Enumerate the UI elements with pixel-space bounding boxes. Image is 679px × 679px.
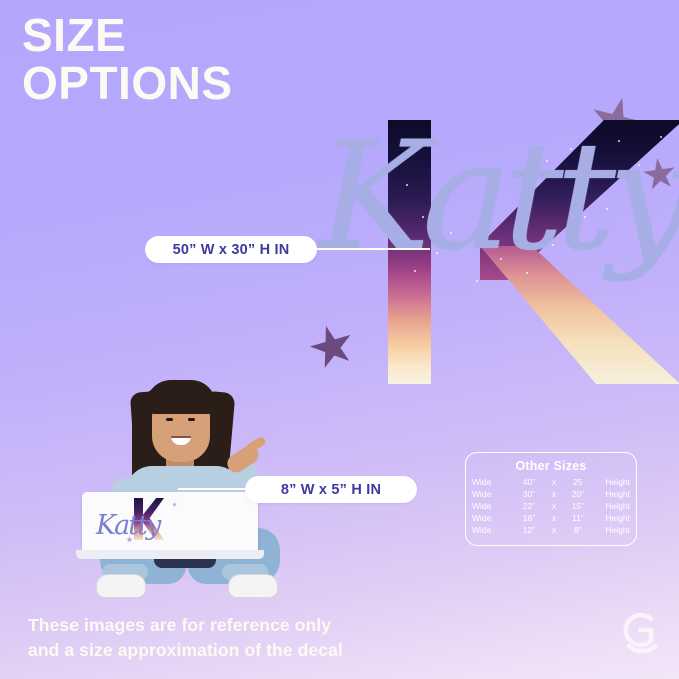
row-wide-label: Wide xyxy=(472,524,513,536)
g-monogram-logo xyxy=(618,607,666,659)
row-height: 25 xyxy=(564,476,592,488)
row-separator: x xyxy=(545,512,564,524)
person-hair-top xyxy=(146,380,216,414)
row-width: 30” xyxy=(513,488,545,500)
row-height-label: Height xyxy=(592,476,630,488)
person-eye-right xyxy=(188,418,195,421)
row-height: 8” xyxy=(564,524,592,536)
row-height: 20” xyxy=(564,488,592,500)
person-eye-left xyxy=(166,418,173,421)
row-width: 40” xyxy=(513,476,545,488)
row-width: 16” xyxy=(513,512,545,524)
small-decal-script-name: Katty xyxy=(96,512,159,539)
row-width: 22” xyxy=(513,500,545,512)
row-height-label: Height xyxy=(592,512,630,524)
large-callout-leader-line xyxy=(314,248,430,250)
laptop-lid: Katty xyxy=(82,492,258,554)
other-sizes-table: Wide 40” x 25 Height Wide 30” x 20” Heig… xyxy=(472,476,630,536)
other-sizes-box: Other Sizes Wide 40” x 25 Height Wide 30… xyxy=(465,452,637,546)
small-callout-leader-line xyxy=(178,488,248,490)
row-height-label: Height xyxy=(592,500,630,512)
row-height-label: Height xyxy=(592,524,630,536)
row-height-label: Height xyxy=(592,488,630,500)
row-wide-label: Wide xyxy=(472,476,513,488)
disclaimer-line-2: and a size approximation of the decal xyxy=(28,638,343,663)
row-separator: x xyxy=(545,524,564,536)
row-wide-label: Wide xyxy=(472,500,513,512)
table-row: Wide 12” x 8” Height xyxy=(472,524,630,536)
page-title-line-1: SIZE xyxy=(22,9,126,61)
person-sneaker-right xyxy=(228,574,278,598)
row-wide-label: Wide xyxy=(472,512,513,524)
large-size-callout: 50” W x 30” H IN xyxy=(145,236,317,263)
page-title: SIZE OPTIONS xyxy=(22,12,352,108)
page-title-line-2: OPTIONS xyxy=(22,60,352,108)
table-row: Wide 16” x 11” Height xyxy=(472,512,630,524)
disclaimer-text: These images are for reference only and … xyxy=(28,613,343,664)
row-height: 11” xyxy=(564,512,592,524)
large-decal-preview: Katty xyxy=(330,96,660,396)
row-separator: x xyxy=(545,500,564,512)
laptop-base xyxy=(76,550,264,559)
table-row: Wide 22” x 15” Height xyxy=(472,500,630,512)
other-sizes-heading: Other Sizes xyxy=(472,459,630,473)
small-size-callout: 8” W x 5” H IN xyxy=(245,476,417,503)
small-decal-star-icon-2 xyxy=(172,502,177,507)
row-separator: x xyxy=(545,476,564,488)
row-separator: x xyxy=(545,488,564,500)
table-row: Wide 30” x 20” Height xyxy=(472,488,630,500)
table-row: Wide 40” x 25 Height xyxy=(472,476,630,488)
disclaimer-line-1: These images are for reference only xyxy=(28,613,343,638)
row-wide-label: Wide xyxy=(472,488,513,500)
row-height: 15” xyxy=(564,500,592,512)
row-width: 12” xyxy=(513,524,545,536)
person-sneaker-left xyxy=(96,574,146,598)
size-options-graphic: SIZE OPTIONS Katty 50” W x 30” xyxy=(0,0,679,679)
